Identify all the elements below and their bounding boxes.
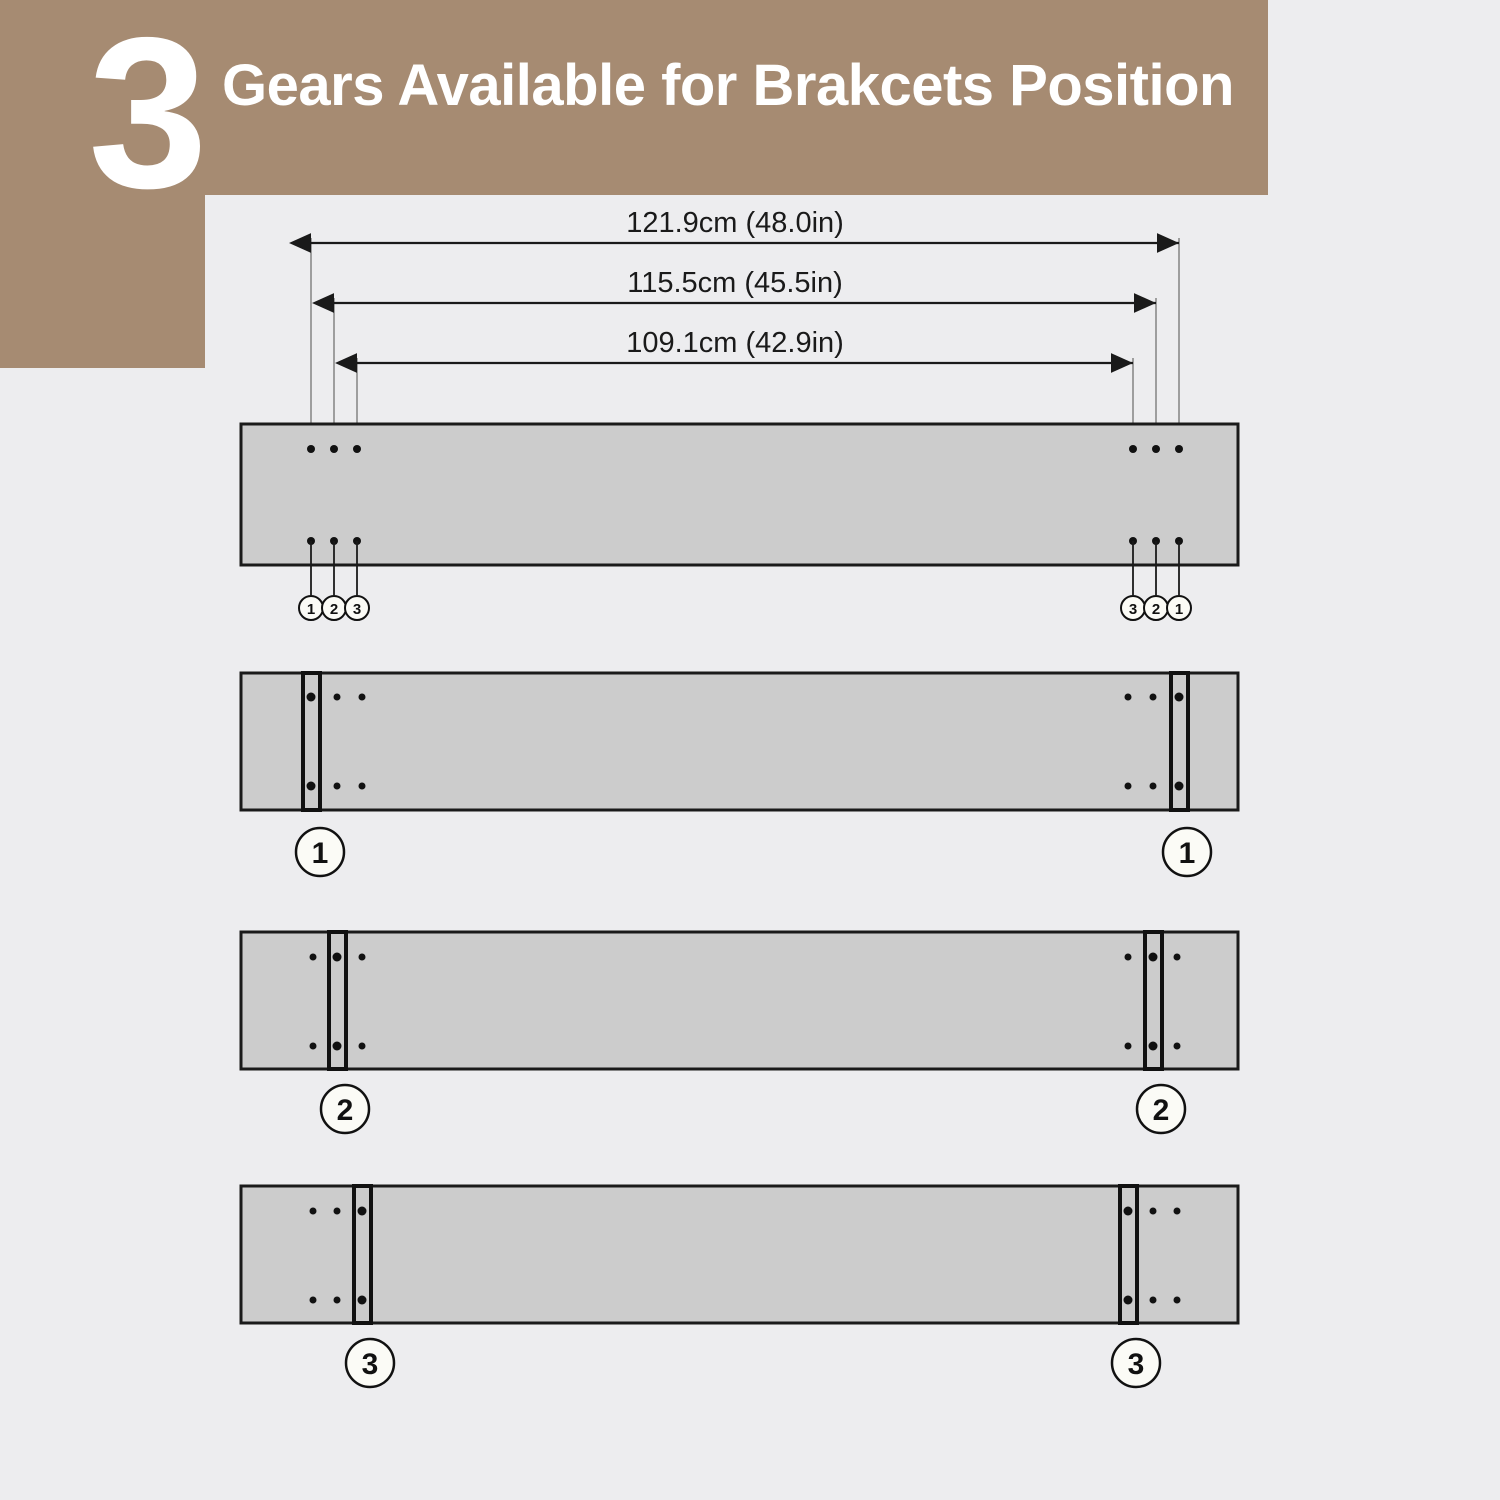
gear-marker-label-left-1: 1 — [312, 837, 329, 870]
marker-label: 3 — [353, 601, 361, 618]
board-overview — [241, 424, 1238, 565]
hole — [1174, 1208, 1181, 1215]
hole — [1125, 694, 1132, 701]
hole — [1125, 954, 1132, 961]
hole — [1149, 1042, 1158, 1051]
gear-panel-3: 3 3 — [241, 1186, 1238, 1387]
marker-label: 1 — [1175, 601, 1183, 618]
hole — [1150, 783, 1157, 790]
hole — [334, 694, 341, 701]
hole — [310, 1297, 317, 1304]
hole — [1175, 693, 1184, 702]
marker-label: 2 — [330, 601, 338, 618]
hole — [1175, 445, 1183, 453]
hole — [1174, 1297, 1181, 1304]
gear-marker-label-right-1: 1 — [1179, 837, 1196, 870]
hole — [307, 693, 316, 702]
dimension-label-3: 109.1cm (42.9in) — [626, 327, 844, 359]
overview-panel: 121.9cm (48.0in) 115.5cm (45.5in) 109.1c… — [241, 207, 1238, 620]
hole — [1150, 1208, 1157, 1215]
hole — [310, 954, 317, 961]
dimension-label-2: 115.5cm (45.5in) — [627, 267, 842, 299]
hole — [358, 1296, 367, 1305]
hole — [310, 1043, 317, 1050]
overview-markers-left: 1 2 3 — [299, 596, 369, 620]
hole — [330, 445, 338, 453]
board-gear-1 — [241, 673, 1238, 810]
diagram-stage: 121.9cm (48.0in) 115.5cm (45.5in) 109.1c… — [0, 0, 1500, 1500]
hole — [1149, 953, 1158, 962]
hole — [334, 1208, 341, 1215]
hole — [359, 694, 366, 701]
hole — [1125, 783, 1132, 790]
overview-markers-right: 3 2 1 — [1121, 596, 1191, 620]
hole — [333, 953, 342, 962]
hole — [358, 1207, 367, 1216]
hole — [359, 783, 366, 790]
marker-label: 2 — [1152, 601, 1160, 618]
hole — [353, 445, 361, 453]
board-gear-2 — [241, 932, 1238, 1069]
dimension-label-1: 121.9cm (48.0in) — [626, 207, 844, 239]
hole — [1174, 954, 1181, 961]
gear-marker-label-left-2: 2 — [337, 1094, 354, 1127]
board-gear-3 — [241, 1186, 1238, 1323]
hole — [1150, 1297, 1157, 1304]
hole — [310, 1208, 317, 1215]
hole — [1125, 1043, 1132, 1050]
hole — [1174, 1043, 1181, 1050]
hole — [1129, 445, 1137, 453]
hole — [333, 1042, 342, 1051]
hole — [359, 1043, 366, 1050]
gear-marker-label-right-3: 3 — [1128, 1348, 1145, 1381]
hole — [1124, 1296, 1133, 1305]
marker-label: 1 — [307, 601, 315, 618]
gear-marker-label-right-2: 2 — [1153, 1094, 1170, 1127]
marker-label: 3 — [1129, 601, 1137, 618]
hole — [1124, 1207, 1133, 1216]
gear-panel-2: 2 2 — [241, 932, 1238, 1133]
hole — [359, 954, 366, 961]
hole — [1150, 694, 1157, 701]
hole — [334, 783, 341, 790]
hole — [1175, 782, 1184, 791]
hole — [334, 1297, 341, 1304]
gear-panel-1: 1 1 — [241, 673, 1238, 876]
hole — [1152, 445, 1160, 453]
hole — [307, 445, 315, 453]
gear-marker-label-left-3: 3 — [362, 1348, 379, 1381]
hole — [307, 782, 316, 791]
